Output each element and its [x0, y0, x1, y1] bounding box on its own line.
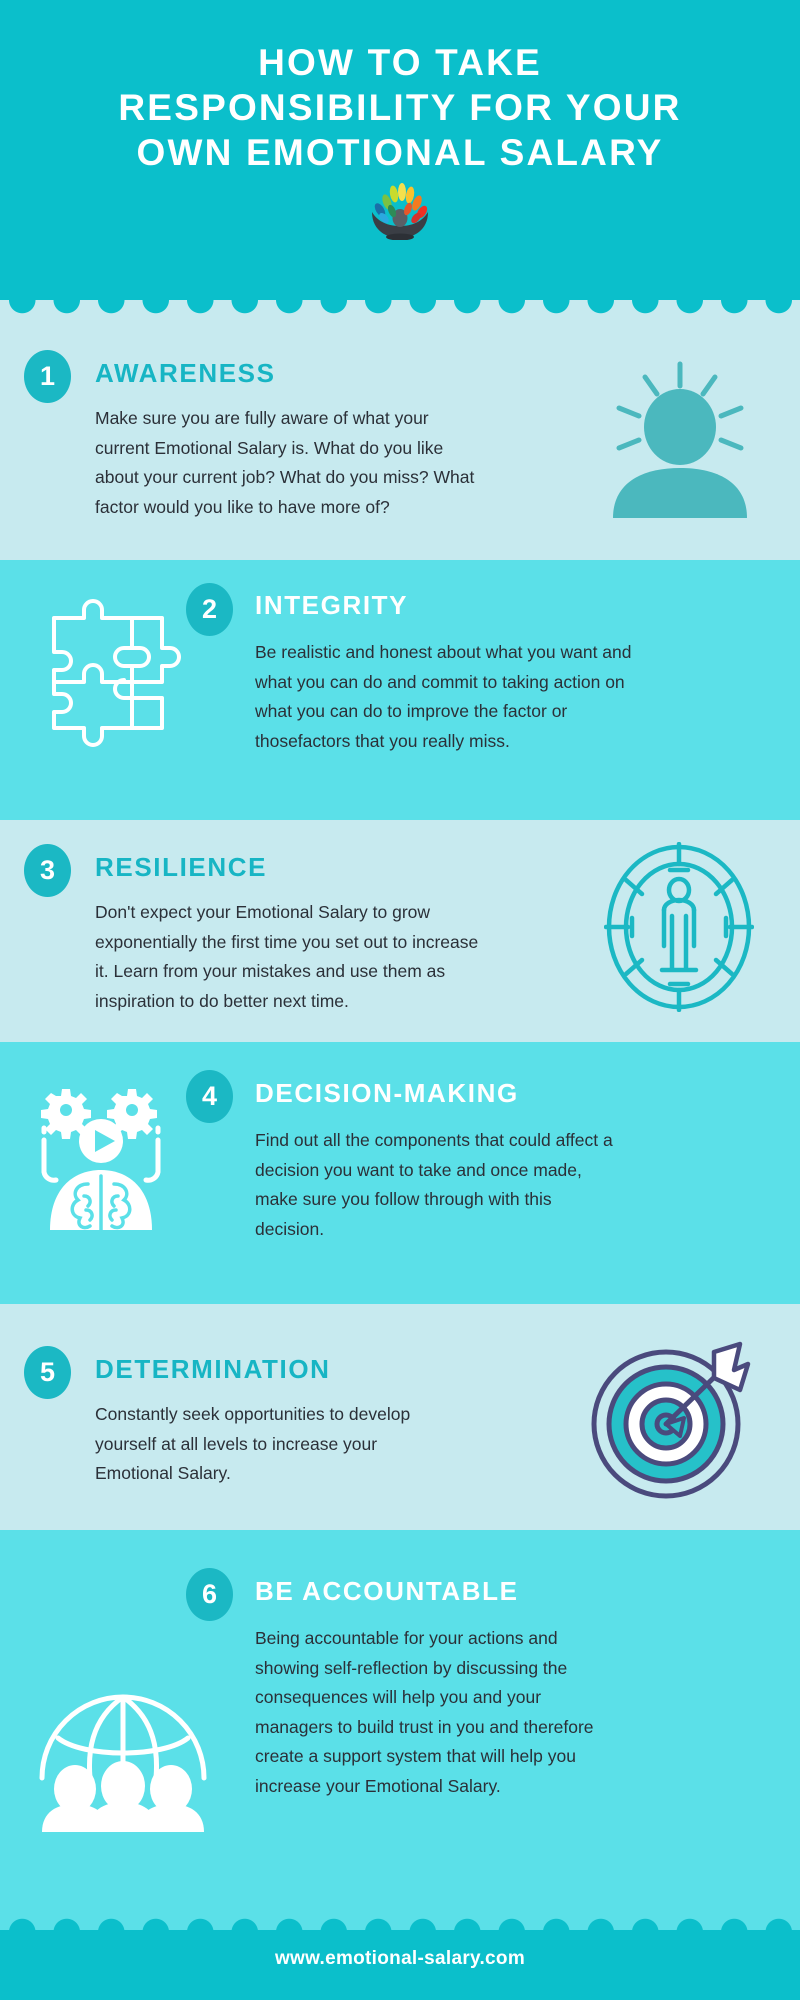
header-banner: How to Take Responsibility for Your Own …	[0, 0, 800, 300]
scallop-divider-bottom	[0, 1906, 800, 1932]
body-be-accountable: Being accountable for your actions and s…	[255, 1624, 615, 1801]
body-resilience: Don't expect your Emotional Salary to gr…	[95, 898, 485, 1016]
puzzle-pieces-icon	[36, 588, 186, 763]
body-decision-making: Find out all the components that could a…	[255, 1126, 625, 1244]
heading-integrity: Integrity	[255, 590, 408, 621]
step-number-3: 3	[24, 844, 71, 897]
infographic-page: How to Take Responsibility for Your Own …	[0, 0, 800, 2000]
heading-decision-making: Decision-Making	[255, 1078, 519, 1109]
title-line-1: How to Take	[0, 40, 800, 85]
page-title: How to Take Responsibility for Your Own …	[0, 40, 800, 175]
heading-determination: Determination	[95, 1354, 331, 1385]
title-line-2: Responsibility for Your	[0, 85, 800, 130]
step-number-6: 6	[186, 1568, 233, 1621]
footer-bar: www.emotional-salary.com	[0, 1930, 800, 2000]
brain-with-gears-icon	[22, 1084, 182, 1239]
title-line-3: Own Emotional Salary	[0, 130, 800, 175]
emotional-salary-logo	[350, 178, 450, 240]
section-determination: 5 Determination Constantly seek opportun…	[0, 1304, 800, 1530]
section-decision-making: 4 Decision-Making Find out all the compo…	[0, 1042, 800, 1304]
section-resilience: 3 Resilience Don't expect your Emotional…	[0, 820, 800, 1042]
body-awareness: Make sure you are fully aware of what yo…	[95, 404, 485, 522]
website-url[interactable]: www.emotional-salary.com	[0, 1948, 800, 1970]
step-number-4: 4	[186, 1070, 233, 1123]
scallop-divider-top	[0, 300, 800, 326]
person-in-target-icon	[604, 842, 754, 1017]
step-number-1: 1	[24, 350, 71, 403]
step-number-5: 5	[24, 1346, 71, 1399]
body-integrity: Be realistic and honest about what you w…	[255, 638, 655, 756]
section-awareness: 1 Awareness Make sure you are fully awar…	[0, 326, 800, 560]
step-number-2: 2	[186, 583, 233, 636]
heading-awareness: Awareness	[95, 358, 276, 389]
section-be-accountable: 6 Be Accountable Being accountable for y…	[0, 1530, 800, 1906]
heading-be-accountable: Be Accountable	[255, 1576, 519, 1607]
globe-with-people-icon	[28, 1662, 218, 1837]
heading-resilience: Resilience	[95, 852, 267, 883]
dartboard-with-arrow-icon	[588, 1334, 758, 1509]
section-integrity: 2 Integrity Be realistic and honest abou…	[0, 560, 800, 820]
body-determination: Constantly seek opportunities to develop…	[95, 1400, 425, 1489]
person-with-rays-icon	[595, 360, 765, 525]
